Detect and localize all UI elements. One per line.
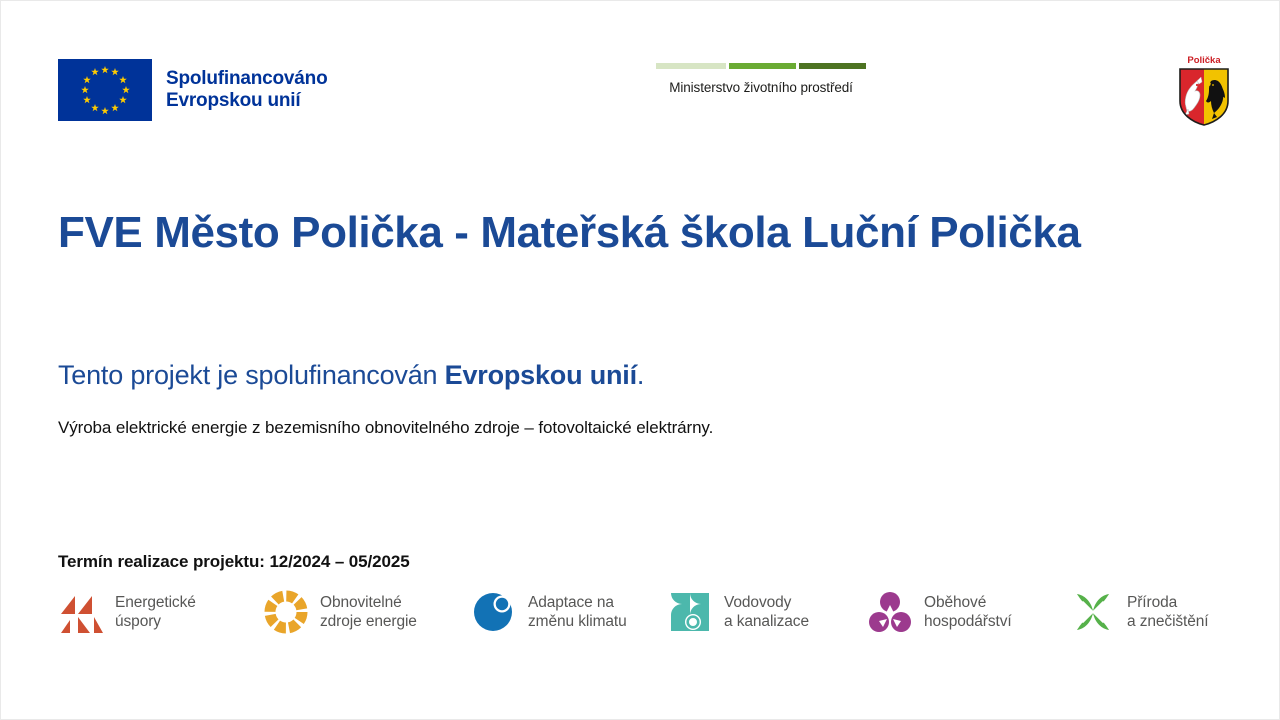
water-sewerage-icon [667, 589, 713, 635]
eu-flag-star-icon [83, 96, 91, 104]
eu-logo: SpolufinancovánoEvropskou unií [58, 59, 327, 121]
ministry-bar-2 [729, 63, 796, 69]
ministry-logo: Ministerstvo životního prostředí [656, 63, 866, 95]
subtitle: Tento projekt je spolufinancován Evropsk… [58, 358, 644, 392]
page-title: FVE Město Polička - Mateřská škola Luční… [58, 204, 1098, 261]
project-description: Výroba elektrické energie z bezemisního … [58, 416, 713, 440]
theme-renewable-energy-label: Obnovitelné zdroje energie [320, 593, 417, 631]
ministry-bars-icon [656, 63, 866, 69]
theme-water-sewerage-label: Vodovody a kanalizace [724, 593, 809, 631]
theme-row: Energetické úspory Obnovitelné zdroje en… [58, 589, 1233, 635]
nature-pollution-icon [1070, 589, 1116, 635]
climate-adaptation-icon [471, 589, 517, 635]
circular-economy-icon [867, 589, 913, 635]
theme-water-sewerage: Vodovody a kanalizace [667, 589, 867, 635]
eu-flag-icon [58, 59, 152, 121]
eu-flag-star-icon [81, 86, 89, 94]
theme-climate-adaptation-label: Adaptace na změnu klimatu [528, 593, 627, 631]
ministry-logo-text: Ministerstvo životního prostředí [656, 80, 866, 95]
eu-flag-star-icon [101, 66, 109, 74]
subtitle-prefix: Tento projekt je spolufinancován [58, 360, 445, 390]
town-crest: Polička [1173, 55, 1235, 127]
coat-of-arms-icon [1178, 67, 1230, 127]
eu-flag-star-icon [119, 96, 127, 104]
project-term: Termín realizace projektu: 12/2024 – 05/… [58, 550, 410, 574]
theme-renewable-energy: Obnovitelné zdroje energie [263, 589, 471, 635]
eu-logo-text: SpolufinancovánoEvropskou unií [166, 68, 327, 112]
theme-climate-adaptation: Adaptace na změnu klimatu [471, 589, 667, 635]
eu-flag-star-icon [119, 76, 127, 84]
energy-savings-icon [58, 589, 104, 635]
logo-strip: SpolufinancovánoEvropskou unií Ministers… [1, 49, 1279, 135]
theme-circular-economy-label: Oběhové hospodářství [924, 593, 1012, 631]
eu-logo-line1: Spolufinancováno [166, 68, 327, 89]
subtitle-strong: Evropskou unií [445, 360, 637, 390]
theme-circular-economy: Oběhové hospodářství [867, 589, 1070, 635]
theme-nature-pollution-label: Příroda a znečištění [1127, 593, 1209, 631]
subtitle-suffix: . [637, 360, 644, 390]
town-crest-label: Polička [1173, 55, 1235, 66]
theme-energy-savings: Energetické úspory [58, 589, 263, 635]
ministry-bar-3 [799, 63, 866, 69]
ministry-bar-1 [656, 63, 726, 69]
eu-flag-star-icon [91, 104, 99, 112]
renewable-energy-icon [263, 589, 309, 635]
eu-flag-star-icon [83, 76, 91, 84]
theme-energy-savings-label: Energetické úspory [115, 593, 196, 631]
eu-flag-star-icon [111, 104, 119, 112]
eu-flag-star-icon [101, 107, 109, 115]
eu-logo-line2: Evropskou unií [166, 90, 300, 111]
poster-page: SpolufinancovánoEvropskou unií Ministers… [0, 0, 1280, 720]
eu-flag-star-icon [91, 68, 99, 76]
theme-nature-pollution: Příroda a znečištění [1070, 589, 1230, 635]
eu-flag-star-icon [122, 86, 130, 94]
